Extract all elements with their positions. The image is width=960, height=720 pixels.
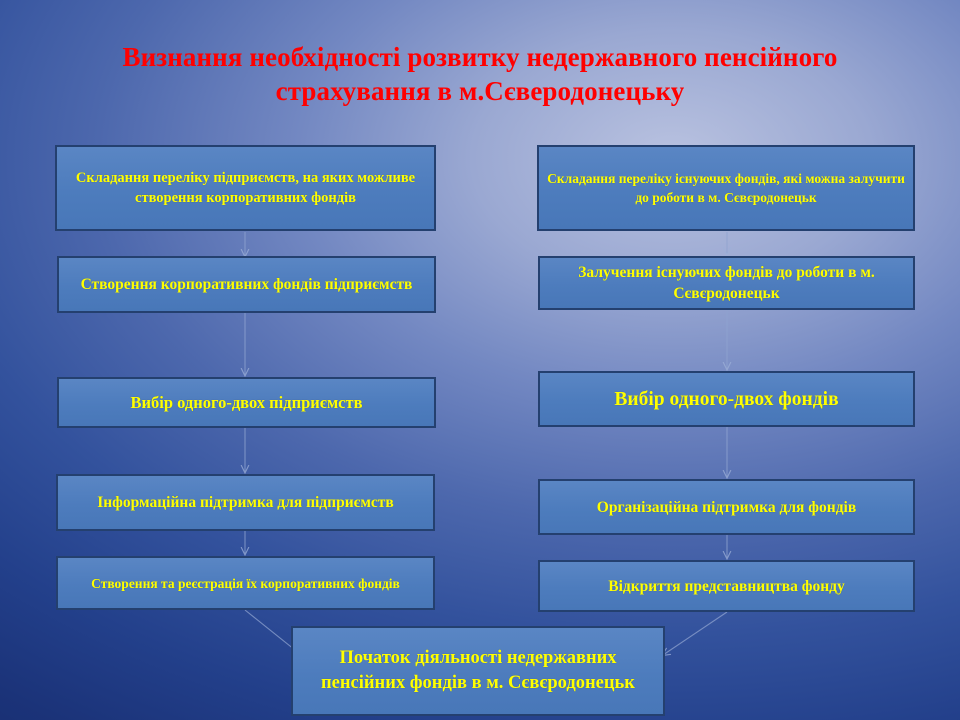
flow-box-right-2-label: Залучення існуючих фондів до роботи в м.… [540, 262, 913, 304]
flow-box-right-1[interactable]: Складання переліку існуючих фондів, які … [537, 145, 915, 231]
flow-box-right-3[interactable]: Вибір одного-двох фондів [538, 371, 915, 427]
flow-box-result[interactable]: Початок діяльності недержавних пенсійних… [291, 626, 665, 716]
flow-box-left-3-label: Вибір одного-двох підприємств [59, 391, 434, 414]
flow-box-right-2[interactable]: Залучення існуючих фондів до роботи в м.… [538, 256, 915, 310]
flow-box-right-4-label: Організаційна підтримка для фондів [540, 497, 913, 518]
flow-box-left-5[interactable]: Створення та реєстрація їх корпоративних… [56, 556, 435, 610]
flow-box-right-5[interactable]: Відкриття представництва фонду [538, 560, 915, 612]
arrow-r5-result [663, 612, 727, 655]
flow-box-result-label: Початок діяльності недержавних пенсійних… [293, 646, 663, 696]
flow-box-left-2[interactable]: Створення корпоративних фондів підприємс… [57, 256, 436, 313]
flow-box-left-5-label: Створення та реєстрація їх корпоративних… [58, 574, 433, 593]
flow-box-left-2-label: Створення корпоративних фондів підприємс… [59, 274, 434, 295]
flow-box-right-3-label: Вибір одного-двох фондів [540, 386, 913, 413]
flow-box-right-1-label: Складання переліку існуючих фондів, які … [539, 169, 913, 207]
page-title: Визнання необхідності розвитку недержавн… [60, 40, 900, 108]
flow-box-right-5-label: Відкриття представництва фонду [540, 576, 913, 597]
flow-box-left-4-label: Інформаційна підтримка для підприємств [58, 492, 433, 513]
flow-box-right-4[interactable]: Організаційна підтримка для фондів [538, 479, 915, 535]
flow-box-left-1[interactable]: Складання переліку підприємств, на яких … [55, 145, 436, 231]
connector-arrows [0, 0, 960, 720]
flow-box-left-4[interactable]: Інформаційна підтримка для підприємств [56, 474, 435, 531]
slide-canvas: Визнання необхідності розвитку недержавн… [0, 0, 960, 720]
flow-box-left-1-label: Складання переліку підприємств, на яких … [57, 168, 434, 208]
flow-box-left-3[interactable]: Вибір одного-двох підприємств [57, 377, 436, 428]
